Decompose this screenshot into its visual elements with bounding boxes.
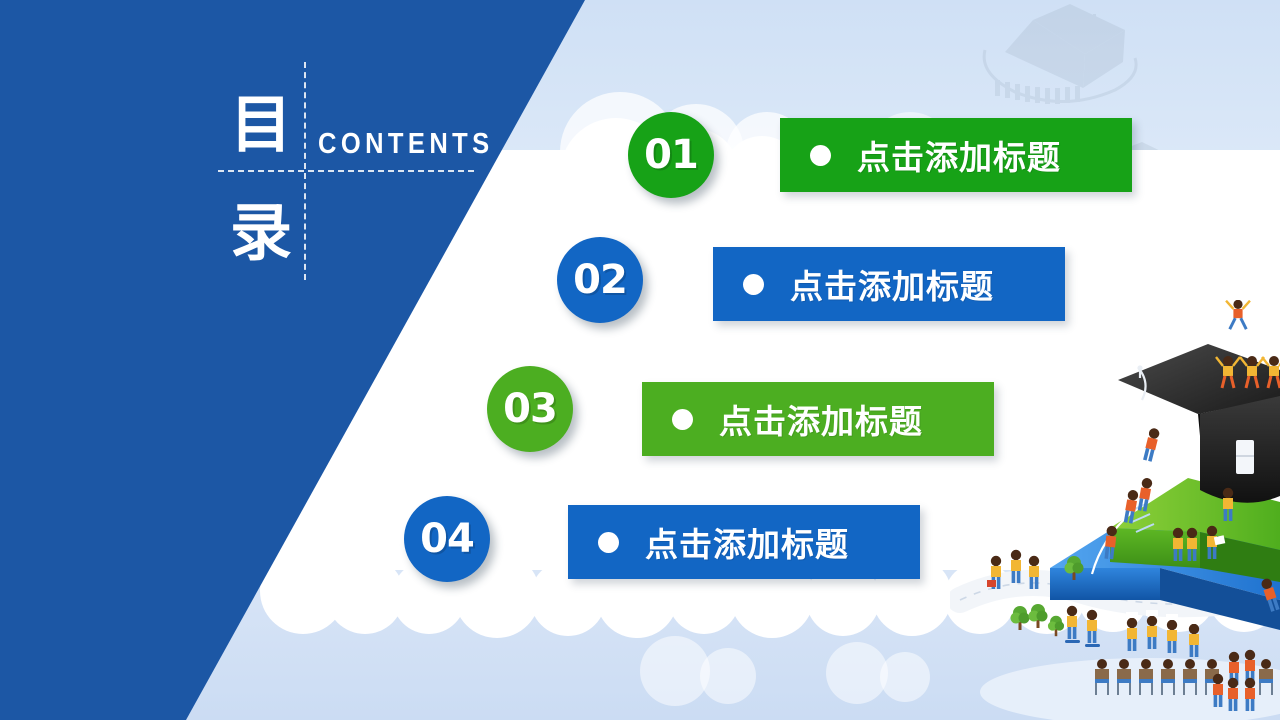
- toc-number-badge-02[interactable]: 02: [557, 237, 643, 323]
- toc-title-bar-03[interactable]: 点击添加标题: [642, 382, 994, 456]
- heading-cn-line1: 目: [222, 94, 300, 156]
- toc-title-bar-01[interactable]: 点击添加标题: [780, 118, 1132, 192]
- slide-canvas: 目 录 CONTENTS 01 点击添加标题 02 点击添加标题 03 点击添加…: [0, 0, 1280, 720]
- toc-number-badge-03[interactable]: 03: [487, 366, 573, 452]
- heading-horizontal-divider: [218, 170, 474, 172]
- heading-cn-line2: 录: [222, 202, 300, 264]
- dot-bullet-icon: [810, 145, 831, 166]
- toc-title-bar-04[interactable]: 点击添加标题: [568, 505, 920, 579]
- dot-bullet-icon: [598, 532, 619, 553]
- dot-bullet-icon: [743, 274, 764, 295]
- toc-title-text-04: 点击添加标题: [645, 518, 849, 566]
- toc-title-bar-02[interactable]: 点击添加标题: [713, 247, 1065, 321]
- heading-en-label: CONTENTS: [318, 130, 494, 159]
- toc-title-text-02: 点击添加标题: [790, 260, 994, 308]
- toc-title-text-03: 点击添加标题: [719, 395, 923, 443]
- contents-heading: 目 录 CONTENTS: [218, 62, 478, 280]
- toc-number-badge-01[interactable]: 01: [628, 112, 714, 198]
- toc-number-badge-04[interactable]: 04: [404, 496, 490, 582]
- graduation-cap-books-students-illustration: [950, 300, 1280, 720]
- dot-bullet-icon: [672, 409, 693, 430]
- toc-title-text-01: 点击添加标题: [857, 131, 1061, 179]
